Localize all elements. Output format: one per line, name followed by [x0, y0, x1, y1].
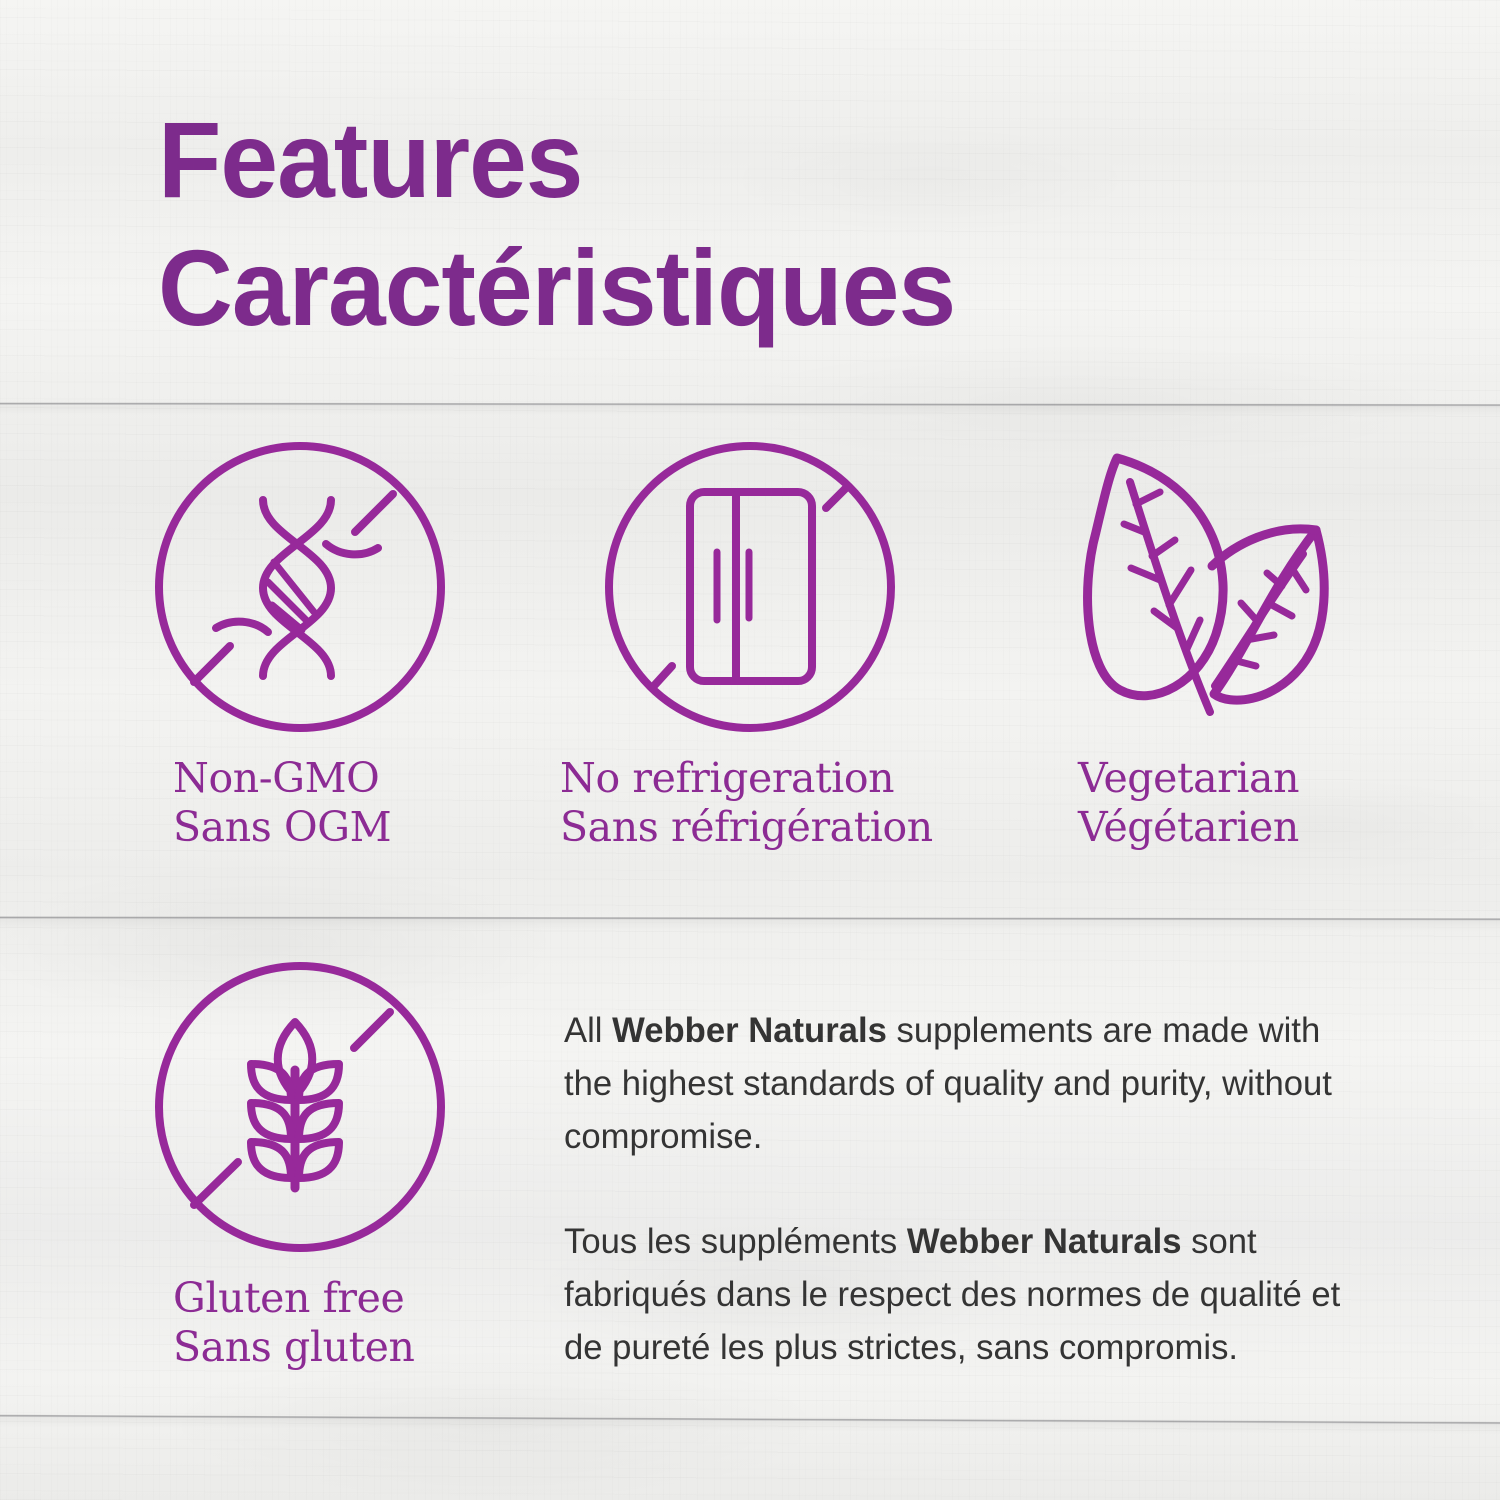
- feature-no-refrigeration: No refrigeration Sans réfrigération: [600, 440, 933, 852]
- brand-statement-fr: Tous les suppléments Webber Naturals son…: [564, 1215, 1368, 1374]
- feature-label: No refrigeration Sans réfrigération: [560, 754, 933, 852]
- feature-label-en: Gluten free: [173, 1274, 450, 1323]
- page-title-fr: Caractéristiques: [158, 224, 955, 352]
- feature-label-fr: Végétarien: [1078, 803, 1360, 852]
- feature-label-en: No refrigeration: [560, 754, 933, 803]
- brand-name-fr: Webber Naturals: [907, 1222, 1182, 1261]
- page-title-en: Features: [158, 99, 583, 220]
- brand-statement: All Webber Naturals supplements are made…: [564, 1004, 1368, 1374]
- feature-label-fr: Sans gluten: [173, 1323, 450, 1372]
- feature-label-en: Vegetarian: [1078, 754, 1360, 803]
- brand-name-en: Webber Naturals: [612, 1011, 887, 1050]
- feature-label: Non-GMO Sans OGM: [173, 754, 450, 852]
- page-title: Features Caractéristiques: [158, 96, 955, 352]
- feature-label-fr: Sans OGM: [173, 803, 450, 852]
- feature-label-en: Non-GMO: [173, 754, 450, 803]
- brand-statement-en: All Webber Naturals supplements are made…: [564, 1004, 1368, 1163]
- no-gmo-dna-icon: [150, 440, 450, 740]
- features-infographic: Features Caractéristiques: [0, 0, 1500, 1500]
- gluten-free-wheat-icon: [150, 960, 450, 1260]
- feature-label: Gluten free Sans gluten: [173, 1274, 450, 1372]
- feature-gluten-free: Gluten free Sans gluten: [150, 960, 450, 1372]
- feature-label: Vegetarian Végétarien: [1078, 754, 1360, 852]
- statement-en-before: All: [564, 1011, 612, 1050]
- feature-non-gmo: Non-GMO Sans OGM: [150, 440, 450, 852]
- statement-fr-before: Tous les suppléments: [564, 1222, 907, 1261]
- feature-vegetarian: Vegetarian Végétarien: [1060, 440, 1360, 852]
- feature-label-fr: Sans réfrigération: [560, 803, 933, 852]
- vegetarian-leaves-icon: [1060, 440, 1360, 740]
- no-refrigeration-fridge-icon: [600, 440, 900, 740]
